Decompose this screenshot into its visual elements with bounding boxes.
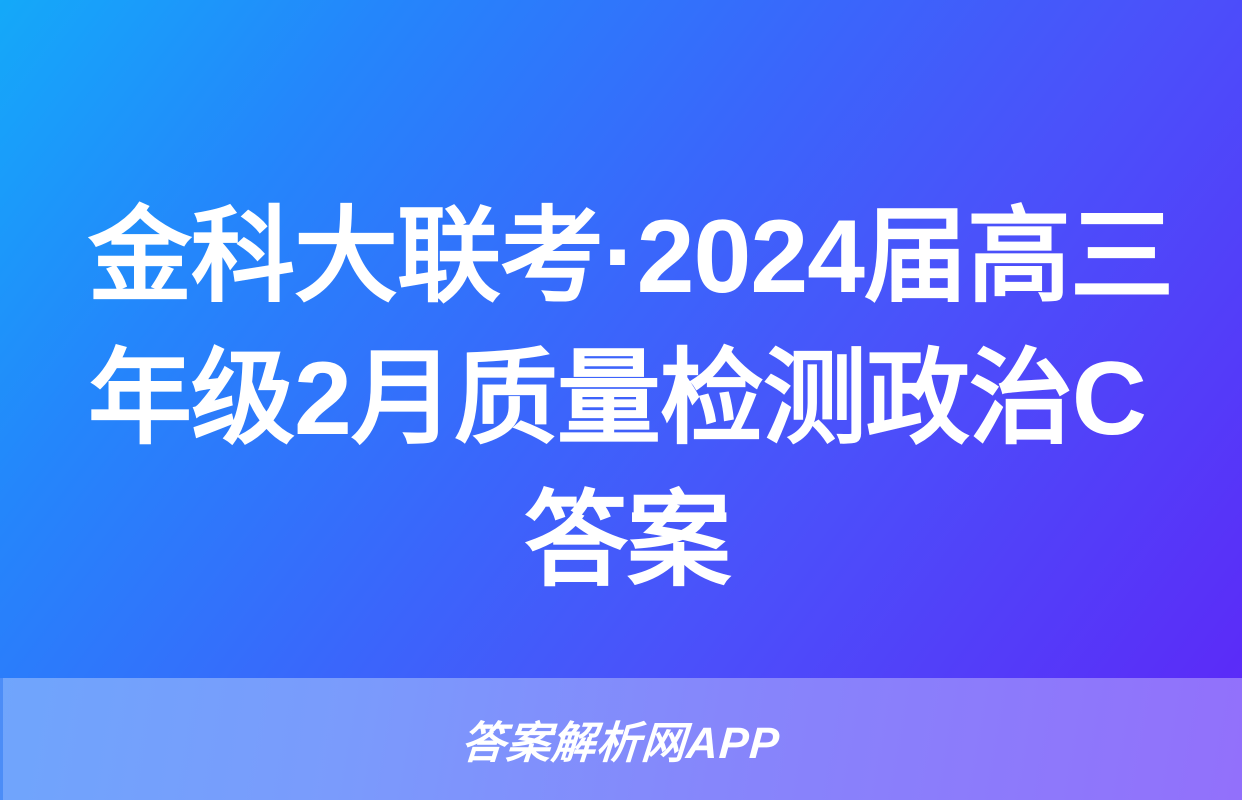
title-line-3: 答案 bbox=[88, 470, 1166, 612]
footer-brand-bar: 答案解析网APP bbox=[0, 678, 1242, 800]
brand-watermark: 答案解析网APP bbox=[0, 678, 1242, 800]
page-title: 金科大联考·2024届高三 年级2月质量检测政治C 答案 bbox=[88, 186, 1166, 612]
answer-poster: 金科大联考·2024届高三 年级2月质量检测政治C 答案 答案解析网APP bbox=[0, 0, 1242, 800]
title-line-2: 年级2月质量检测政治C bbox=[88, 328, 1166, 470]
title-line-1: 金科大联考·2024届高三 bbox=[88, 186, 1166, 328]
hero-gradient-banner: 金科大联考·2024届高三 年级2月质量检测政治C 答案 bbox=[0, 0, 1242, 678]
